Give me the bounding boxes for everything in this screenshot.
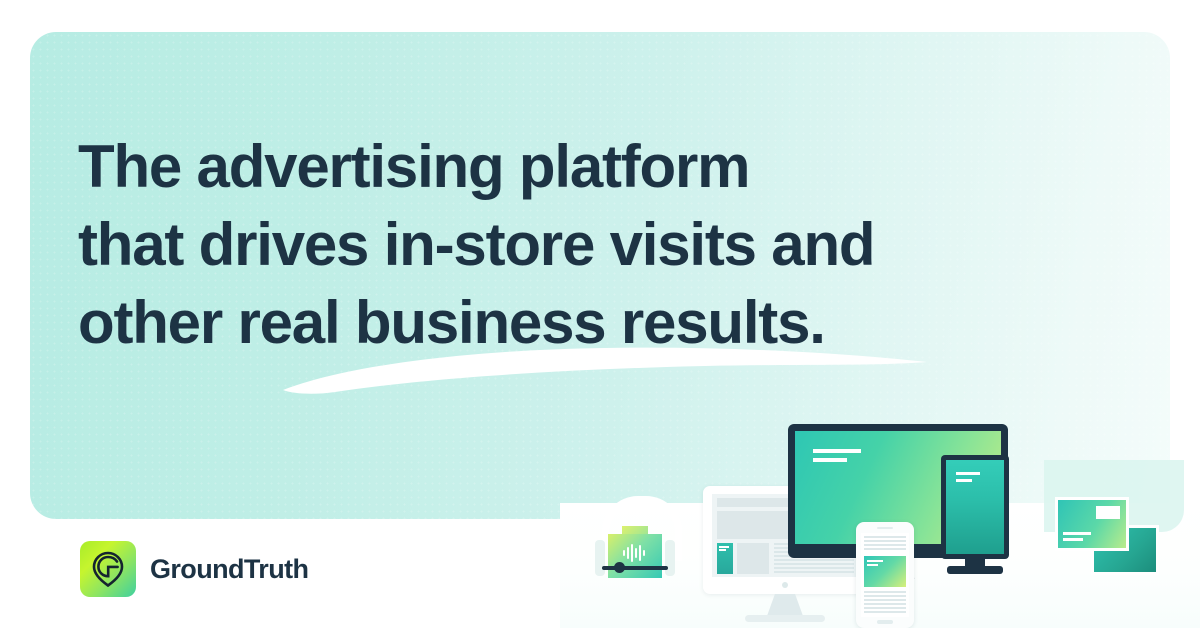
monitor-stand-base: [745, 615, 825, 622]
brand-logo-lockup[interactable]: GroundTruth: [80, 541, 308, 597]
phone-display-ad: [864, 556, 906, 587]
billboard-text-line-1: [1063, 532, 1091, 535]
banner-line-2: [719, 549, 726, 551]
kiosk-text-line-1: [956, 472, 980, 475]
headphone-cup-left: [595, 540, 605, 576]
kiosk-text-line-2: [956, 479, 972, 482]
groundtruth-pin-g-icon: [80, 541, 136, 597]
kiosk-screen: [946, 460, 1004, 554]
tv-text-line-1: [813, 449, 861, 453]
headline-line-2: that drives in-store visits and: [78, 206, 1008, 284]
webpage-image-block: [737, 543, 769, 574]
page-title: The advertising platform that drives in-…: [78, 128, 1008, 362]
device-illustration: [560, 400, 1200, 628]
headphones-icon: [588, 496, 682, 582]
audio-slider-knob[interactable]: [614, 562, 625, 573]
phone-speaker: [877, 527, 893, 529]
webpage-side-banner: [717, 543, 733, 574]
headphone-cup-right: [665, 540, 675, 576]
phone-text-lines-bottom: [864, 591, 906, 613]
banner-line-1: [719, 546, 729, 548]
kiosk-bezel: [941, 455, 1009, 559]
phone-text-lines-top: [864, 536, 906, 552]
billboard-front-card: [1055, 497, 1129, 551]
brand-wordmark: GroundTruth: [150, 554, 308, 585]
phone-screen: [861, 533, 909, 617]
headline-line-1: The advertising platform: [78, 128, 1008, 206]
billboard-label-block: [1096, 506, 1120, 519]
billboard-cards-icon: [1055, 497, 1165, 575]
location-pin-g-glyph: [91, 551, 125, 587]
billboard-text-line-2: [1063, 538, 1083, 541]
smartphone-icon: [856, 522, 914, 628]
creative-canvas: The advertising platform that drives in-…: [0, 0, 1200, 628]
digital-kiosk-icon: [941, 455, 1009, 575]
tv-text-line-2: [813, 458, 847, 462]
monitor-stand-neck: [767, 594, 803, 616]
audio-waveform-icon: [622, 544, 648, 562]
phone-ad-line-2: [867, 564, 878, 566]
kiosk-stand-base: [947, 566, 1003, 574]
headline-line-3-emphasis: real business results.: [237, 289, 824, 356]
audio-progress-slider[interactable]: [602, 566, 668, 570]
phone-ad-line-1: [867, 560, 883, 562]
headline-line-3-normal: other: [78, 289, 237, 356]
phone-home-indicator: [877, 620, 893, 624]
headline-line-3: other real business results.: [78, 284, 1008, 362]
